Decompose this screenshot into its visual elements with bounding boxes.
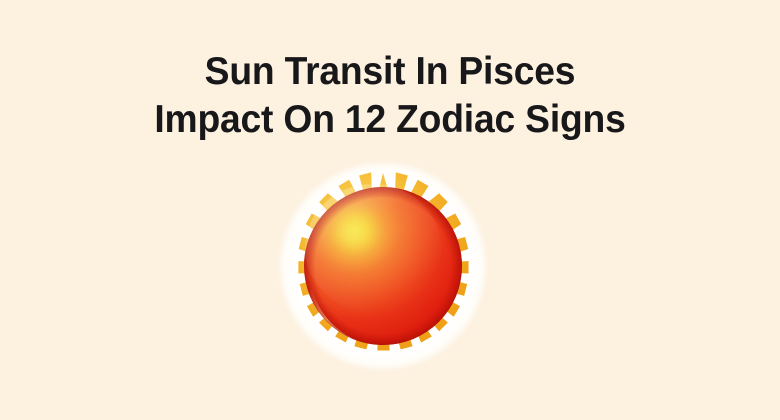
- sun-highlight-hotspot: [340, 222, 366, 244]
- title-line-1: Sun Transit In Pisces: [18, 48, 763, 96]
- sun-illustration-svg: [277, 160, 489, 372]
- title-line-2: Impact On 12 Zodiac Signs: [18, 96, 763, 144]
- sun-illustration: [277, 160, 489, 372]
- poster-canvas: Sun Transit In Pisces Impact On 12 Zodia…: [0, 0, 780, 420]
- page-title: Sun Transit In Pisces Impact On 12 Zodia…: [0, 48, 780, 144]
